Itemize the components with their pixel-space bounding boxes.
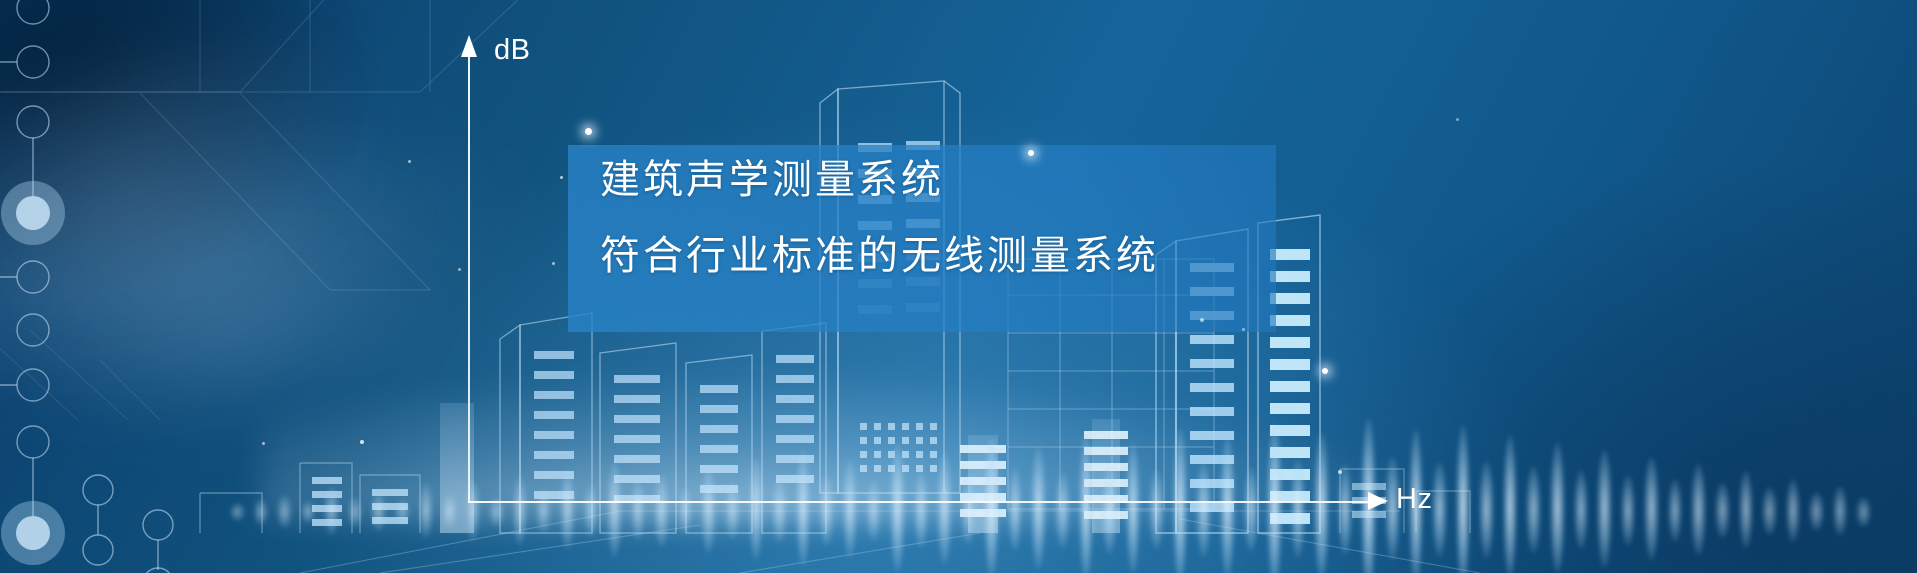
sparkle-dot [585,128,592,135]
waveform-bar [1668,479,1683,542]
waveform-bar [584,485,599,536]
waveform-bar [1503,435,1518,573]
arrow-up-icon [461,35,477,57]
waveform-bar [1574,470,1589,549]
corner-vignette [0,0,320,300]
waveform-bar [1550,443,1565,573]
page-title: 建筑声学测量系统 [600,160,1340,200]
sparkle-dot [1456,118,1459,121]
waveform-bar [1244,467,1259,552]
sparkle-dot [1322,368,1328,374]
waveform-bar [890,444,905,573]
y-axis-line [468,55,470,503]
waveform-bar [419,483,434,538]
waveform-bar [1644,457,1659,560]
waveform-bar [1479,461,1494,558]
waveform-bar [442,494,457,530]
waveform-bar [1739,471,1754,548]
waveform-bar [560,470,575,549]
waveform-bar [796,451,811,566]
sparkle-dot [408,160,411,163]
waveform-bar [1008,468,1023,551]
waveform-bar [230,503,245,521]
sparkle-dot [360,440,364,444]
waveform-bar [1291,460,1306,559]
waveform-bar [631,481,646,540]
x-axis-line [468,501,1368,503]
waveform-bar [961,476,976,545]
waveform-bar [1691,464,1706,555]
waveform-bar [1715,483,1730,538]
waveform-bar [301,501,316,523]
waveform-bar [843,460,858,559]
sparkle-dot [458,268,461,271]
waveform-bar [937,453,952,564]
audio-waveform-spectrum [0,361,1917,551]
acoustic-measurement-banner: dB Hz 建筑声学测量系统 符合行业标准的无线测量系统 [0,0,1917,573]
headline-text-block: 建筑声学测量系统 符合行业标准的无线测量系统 [600,160,1340,276]
waveform-bar [1338,464,1353,555]
waveform-bar [513,476,528,545]
arrow-right-icon [1368,492,1388,510]
waveform-bar [1102,465,1117,554]
waveform-bar [1786,479,1801,542]
waveform-bar [1031,447,1046,570]
waveform-bar [1456,425,1471,573]
waveform-bar [701,466,716,553]
waveform-bar [725,482,740,539]
waveform-bar [1597,450,1612,567]
waveform-bar [1526,466,1541,553]
waveform-bar [819,475,834,546]
x-axis-label: Hz [1396,483,1432,516]
light-swoosh-3 [28,215,473,465]
waveform-bar [348,497,363,527]
waveform-bar [1149,470,1164,549]
waveform-bar [371,492,386,532]
skyline-base-glow [260,371,1440,521]
sparkle-dot [262,442,265,445]
sparkle-dot [560,176,563,179]
waveform-bar [254,499,269,525]
waveform-bar [607,462,622,557]
waveform-bar [1220,437,1235,573]
waveform-bar [1126,443,1141,573]
waveform-bar [1809,492,1824,532]
sparkle-dot [1338,470,1342,474]
waveform-bar [678,488,693,533]
waveform-bar [1432,462,1447,557]
y-axis-label: dB [494,34,530,67]
waveform-bar [395,500,410,524]
waveform-bar [654,474,669,547]
page-subtitle: 符合行业标准的无线测量系统 [600,236,1340,276]
waveform-bar [324,487,339,534]
waveform-bar [1196,462,1211,557]
waveform-bar [1762,487,1777,534]
waveform-bar [866,480,881,541]
waveform-bar [749,457,764,560]
waveform-bar [1833,486,1848,535]
waveform-bar [1621,475,1636,546]
sparkle-dot [552,262,555,265]
waveform-bar [536,490,551,534]
waveform-bar [1267,423,1282,573]
circuit-trace-pattern [0,0,330,573]
waveform-bar [984,438,999,573]
waveform-bar [914,471,929,548]
waveform-bar [772,478,787,543]
light-swoosh-1 [0,0,437,441]
waveform-bar [277,495,292,529]
waveform-bar [1055,472,1070,547]
waveform-bar [1856,497,1871,527]
